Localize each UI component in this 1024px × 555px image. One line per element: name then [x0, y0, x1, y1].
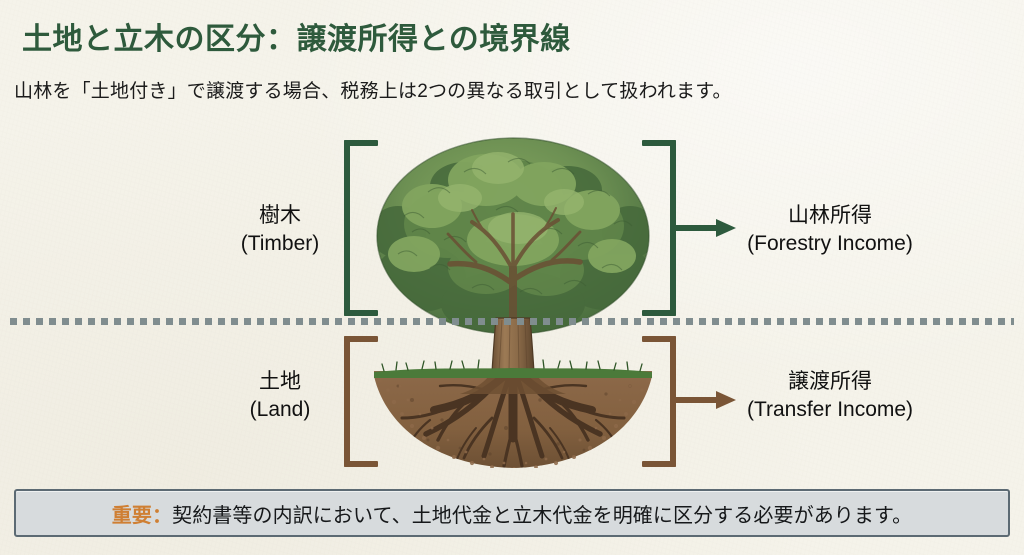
label-land-en: (Land) — [155, 396, 405, 424]
bracket-cap-bottom — [344, 310, 378, 316]
bracket-cap-bottom — [344, 461, 378, 467]
label-transfer-jp: 譲渡所得 — [705, 368, 955, 396]
tree-trunk — [492, 318, 534, 372]
bracket-timber-right — [642, 140, 676, 316]
soil-and-roots — [374, 360, 652, 468]
bracket-cap-bottom — [642, 310, 676, 316]
label-land: 土地 (Land) — [155, 368, 405, 423]
label-timber-jp: 樹木 — [155, 202, 405, 230]
infographic-canvas: 土地と立木の区分：譲渡所得との境界線 山林を「土地付き」で譲渡する場合、税務上は… — [0, 0, 1024, 555]
page-subtitle: 山林を「土地付き」で譲渡する場合、税務上は2つの異なる取引として扱われます。 — [14, 76, 732, 103]
label-forestry-income: 山林所得 (Forestry Income) — [705, 202, 955, 257]
important-note-box: 重要：契約書等の内訳において、土地代金と立木代金を明確に区分する必要があります。 — [14, 489, 1010, 537]
bracket-cap-top — [642, 140, 676, 146]
bracket-cap-bottom — [642, 461, 676, 467]
bracket-cap-top — [642, 336, 676, 342]
label-transfer-income: 譲渡所得 (Transfer Income) — [705, 368, 955, 423]
important-note-keyword: 重要： — [112, 505, 172, 527]
label-forestry-en: (Forestry Income) — [705, 230, 955, 258]
bracket-land-right — [642, 336, 676, 467]
tree-with-roots-illustration — [368, 128, 658, 468]
important-note-body: 契約書等の内訳において、土地代金と立木代金を明確に区分する必要があります。 — [172, 505, 912, 527]
label-timber-en: (Timber) — [155, 230, 405, 258]
page-title: 土地と立木の区分：譲渡所得との境界線 — [22, 14, 571, 58]
ground-dotted-divider — [10, 318, 1014, 325]
label-land-jp: 土地 — [155, 368, 405, 396]
bracket-cap-top — [344, 336, 378, 342]
bracket-cap-top — [344, 140, 378, 146]
important-note-text: 重要：契約書等の内訳において、土地代金と立木代金を明確に区分する必要があります。 — [112, 499, 912, 528]
label-transfer-en: (Transfer Income) — [705, 396, 955, 424]
label-forestry-jp: 山林所得 — [705, 202, 955, 230]
tree-canopy — [370, 138, 658, 338]
label-timber: 樹木 (Timber) — [155, 202, 405, 257]
